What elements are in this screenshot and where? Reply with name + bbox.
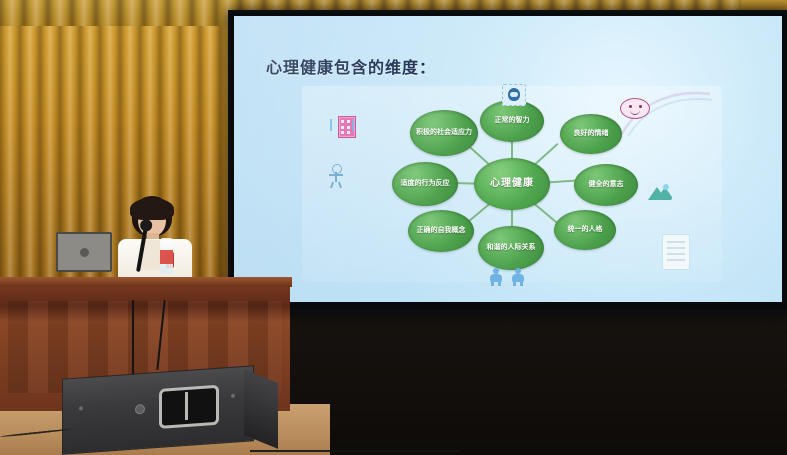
node-self-concept[interactable]: 正确的自我概念 [408, 210, 474, 252]
speaker-screw-2 [231, 394, 235, 398]
water-bottle[interactable] [160, 238, 173, 274]
people-pair-icon [490, 268, 502, 286]
speaker-grill [159, 385, 219, 429]
node-center-mental-health[interactable]: 心理健康 [474, 158, 550, 210]
bottle-label [160, 250, 173, 264]
smiley-face-icon [620, 98, 650, 119]
stage-floor-dark [290, 310, 787, 455]
node-intelligence[interactable]: 正常的智力 [480, 100, 544, 142]
node-behavior[interactable]: 适度的行为反应 [392, 162, 458, 206]
stick-figure-icon [326, 164, 346, 188]
laptop[interactable] [56, 232, 112, 274]
speaker-knob [135, 404, 145, 415]
slide-title: 心理健康包含的维度： [266, 54, 436, 78]
presenter-person [108, 196, 200, 286]
projection-screen: 心理健康包含的维度： 心理健康 正常的智力 [234, 16, 782, 302]
laptop-logo [80, 248, 89, 257]
speaker-side-panel [244, 369, 278, 449]
speaker-screw [79, 406, 83, 410]
node-will[interactable]: 健全的意志 [574, 164, 638, 206]
person-head-icon [502, 84, 526, 106]
mind-map-diagram: 心理健康 正常的智力 良好的情绪 健全的意志 统一的人格 和谐的人际关系 正确的… [302, 86, 722, 282]
laptop-lid [56, 232, 112, 272]
podium-top-edge [0, 277, 292, 287]
node-emotion[interactable]: 良好的情绪 [560, 114, 622, 154]
node-adaptability[interactable]: 积极的社会适应力 [410, 110, 478, 156]
stage-monitor-speaker [62, 365, 254, 454]
node-personality[interactable]: 统一的人格 [554, 210, 616, 250]
people-pair-icon-2 [512, 268, 524, 286]
node-relationships[interactable]: 和谐的人际关系 [478, 226, 544, 270]
presentation-photo: 心理健康包含的维度： 心理健康 正常的智力 [0, 0, 787, 455]
floor-cable-center [250, 440, 460, 452]
hair-top [130, 198, 174, 220]
decor-lines-icon [330, 116, 354, 136]
landscape-icon [646, 182, 672, 200]
note-card-icon [662, 234, 690, 270]
cable-vertical [132, 300, 134, 378]
